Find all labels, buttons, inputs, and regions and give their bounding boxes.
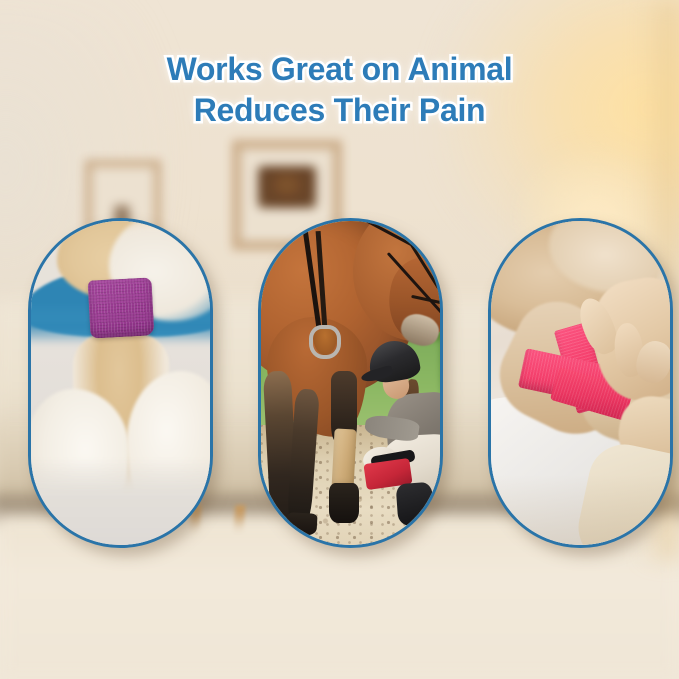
photo-panel-horse-leg-wrap: [258, 218, 443, 548]
photo-panel-dog-purple-wrap: [28, 218, 213, 548]
wall-picture-art-center: [258, 166, 317, 208]
purple-bandage-wrap: [88, 277, 155, 338]
dog-photo-floor: [31, 459, 210, 545]
product-image-canvas: Works Great on Animal Reduces Their Pain: [0, 0, 679, 679]
photo-panel-cat-pink-wrap: [488, 218, 673, 548]
cat-photo-shadow: [491, 475, 670, 545]
horse-hoof: [286, 512, 317, 536]
rider-riding-boot: [396, 482, 435, 526]
horse-hoof: [329, 483, 359, 523]
stirrup-icon: [309, 325, 341, 359]
horse-photo: [261, 221, 440, 545]
dog-photo: [31, 221, 210, 545]
cat-photo: [491, 221, 670, 545]
